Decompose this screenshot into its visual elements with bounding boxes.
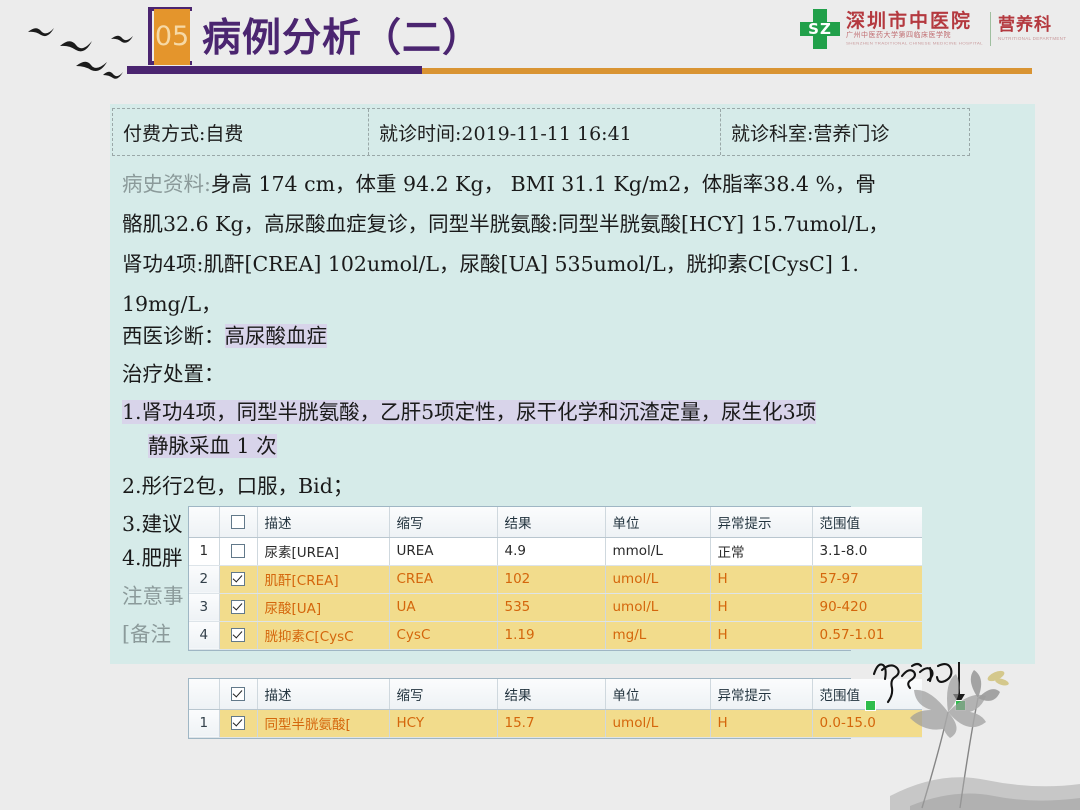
renal-line-2: 19mg/L， (122, 292, 222, 316)
row-index: 1 (189, 709, 219, 737)
column-header-result[interactable]: 结果 (497, 507, 605, 537)
column-header-description[interactable]: 描述 (257, 679, 389, 709)
row-checkbox[interactable] (231, 544, 245, 558)
cell-abbreviation: UREA (389, 537, 497, 565)
hospital-affiliation-cn: 广州中医药大学第四临床医学院 (846, 31, 983, 40)
cell-abnormal-flag: H (710, 621, 812, 649)
medical-cross-icon: SZ (800, 9, 840, 49)
select-all-checkbox-cell[interactable] (219, 679, 257, 709)
visit-time: 就诊时间:2019-11-11 16:41 (369, 109, 721, 155)
logo-divider (990, 12, 991, 46)
row-checkbox-cell[interactable] (219, 709, 257, 737)
cell-result: 102 (497, 565, 605, 593)
visit-department: 就诊科室:营养门诊 (721, 109, 969, 155)
row-checkbox-cell[interactable] (219, 621, 257, 649)
table-header-row: 描述 缩写 结果 单位 异常提示 范围值 (189, 507, 922, 537)
diagnosis-label: 西医诊断： (122, 324, 225, 348)
table-row[interactable]: 4 胱抑素C[CysC CysC 1.19 mg/L H 0.57-1.01 (189, 621, 922, 649)
cell-abnormal-flag: 正常 (710, 537, 812, 565)
treatment-label: 治疗处置： (122, 362, 225, 386)
cell-unit: umol/L (605, 565, 710, 593)
row-index: 3 (189, 593, 219, 621)
title-rule-purple (127, 66, 422, 74)
column-header-abnormal-flag[interactable]: 异常提示 (710, 507, 812, 537)
row-checkbox-cell[interactable] (219, 537, 257, 565)
cell-abbreviation: CREA (389, 565, 497, 593)
renal-function-lab-table[interactable]: 描述 缩写 结果 单位 异常提示 范围值 1 尿素[UREA] UREA 4.9… (188, 506, 851, 651)
cell-description: 胱抑素C[CysC (257, 621, 389, 649)
table-row[interactable]: 2 肌酐[CREA] CREA 102 umol/L H 57-97 (189, 565, 922, 593)
logo-mark-text: SZ (803, 18, 837, 40)
column-header-result[interactable]: 结果 (497, 679, 605, 709)
cell-description: 尿素[UREA] (257, 537, 389, 565)
cell-range: 57-97 (812, 565, 922, 593)
payment-method: 付费方式:自费 (113, 109, 369, 155)
history-text-1: 身高 174 cm，体重 94.2 Kg， BMI 31.1 Kg/m2，体脂率… (211, 172, 876, 196)
cell-abnormal-flag: H (710, 565, 812, 593)
cell-result: 1.19 (497, 621, 605, 649)
treatment-item-1-line-2: 静脉采血 1 次 (148, 434, 277, 458)
row-index: 1 (189, 537, 219, 565)
remark-line: [备注 (122, 622, 171, 646)
column-header-abbreviation[interactable]: 缩写 (389, 679, 497, 709)
visit-meta-row: 付费方式:自费 就诊时间:2019-11-11 16:41 就诊科室:营养门诊 (112, 108, 970, 156)
treatment-item-1-line-1: 1.肾功4项，同型半胱氨酸，乙肝5项定性，尿干化学和沉渣定量，尿生化3项 (122, 400, 816, 424)
homocysteine-lab-table[interactable]: 描述 缩写 结果 单位 异常提示 范围值 1 同型半胱氨酸[ HCY 15.7 … (188, 678, 851, 739)
table-row[interactable]: 1 同型半胱氨酸[ HCY 15.7 umol/L H 0.0-15.0 (189, 709, 922, 737)
column-header-abnormal-flag[interactable]: 异常提示 (710, 679, 812, 709)
row-index-header (189, 507, 219, 537)
history-line-2: 骼肌32.6 Kg，高尿酸血症复诊，同型半胱氨酸:同型半胱氨酸[HCY] 15.… (122, 212, 889, 236)
cell-range: 90-420 (812, 593, 922, 621)
row-checkbox[interactable] (231, 600, 245, 614)
column-header-unit[interactable]: 单位 (605, 507, 710, 537)
column-header-abbreviation[interactable]: 缩写 (389, 507, 497, 537)
row-checkbox[interactable] (231, 572, 245, 586)
cell-abnormal-flag: H (710, 593, 812, 621)
cell-unit: mmol/L (605, 537, 710, 565)
diagnosis-value: 高尿酸血症 (225, 324, 328, 348)
treatment-item-4: 4.肥胖 (122, 546, 183, 570)
column-header-range[interactable]: 范围值 (812, 507, 922, 537)
history-line-1: 病史资料:身高 174 cm，体重 94.2 Kg， BMI 31.1 Kg/m… (122, 172, 876, 196)
cell-description: 尿酸[UA] (257, 593, 389, 621)
cell-result: 4.9 (497, 537, 605, 565)
select-all-checkbox[interactable] (231, 687, 245, 701)
cell-result: 535 (497, 593, 605, 621)
select-all-checkbox-cell[interactable] (219, 507, 257, 537)
notes-line: 注意事 (122, 584, 184, 608)
cell-abnormal-flag: H (710, 709, 812, 737)
cell-description: 同型半胱氨酸[ (257, 709, 389, 737)
cell-unit: umol/L (605, 593, 710, 621)
department-name-en: NUTRITIONAL DEPARTMENT (998, 35, 1066, 42)
cell-result: 15.7 (497, 709, 605, 737)
page-title: 病例分析（二） (202, 7, 482, 63)
row-index: 4 (189, 621, 219, 649)
cell-abbreviation: HCY (389, 709, 497, 737)
row-checkbox[interactable] (231, 628, 245, 642)
row-checkbox[interactable] (231, 716, 245, 730)
cell-unit: umol/L (605, 709, 710, 737)
cell-range: 3.1-8.0 (812, 537, 922, 565)
column-header-description[interactable]: 描述 (257, 507, 389, 537)
hospital-name-cn: 深圳市中医院 (846, 11, 983, 31)
cell-unit: mg/L (605, 621, 710, 649)
row-index-header (189, 679, 219, 709)
title-rule-orange (422, 68, 1032, 74)
treatment-item-2: 2.彤行2包，口服，Bid； (122, 474, 353, 498)
cell-description: 肌酐[CREA] (257, 565, 389, 593)
diagnosis-line: 西医诊断：高尿酸血症 (122, 324, 327, 348)
treatment-item-3: 3.建议 (122, 512, 183, 536)
column-header-unit[interactable]: 单位 (605, 679, 710, 709)
flying-birds-icon (8, 6, 158, 86)
table-row[interactable]: 1 尿素[UREA] UREA 4.9 mmol/L 正常 3.1-8.0 (189, 537, 922, 565)
row-checkbox-cell[interactable] (219, 593, 257, 621)
row-checkbox-cell[interactable] (219, 565, 257, 593)
lotus-ink-painting (850, 620, 1080, 810)
row-index: 2 (189, 565, 219, 593)
table-header-row: 描述 缩写 结果 单位 异常提示 范围值 (189, 679, 922, 709)
renal-line-1: 肾功4项:肌酐[CREA] 102umol/L，尿酸[UA] 535umol/L… (122, 252, 859, 276)
cell-abbreviation: CysC (389, 621, 497, 649)
hospital-name-en: SHENZHEN TRADITIONAL CHINESE MEDICINE HO… (846, 40, 983, 46)
table-row[interactable]: 3 尿酸[UA] UA 535 umol/L H 90-420 (189, 593, 922, 621)
slide-header: 05 病例分析（二） SZ 深圳市中医院 广州中医药大学第四临床医学院 SHEN… (0, 0, 1080, 88)
hospital-logo: SZ 深圳市中医院 广州中医药大学第四临床医学院 SHENZHEN TRADIT… (800, 6, 1072, 52)
select-all-checkbox[interactable] (231, 515, 245, 529)
cell-abbreviation: UA (389, 593, 497, 621)
department-name-cn: 营养科 (998, 16, 1066, 35)
history-label: 病史资料: (122, 172, 211, 196)
section-number-badge: 05 (154, 9, 190, 65)
